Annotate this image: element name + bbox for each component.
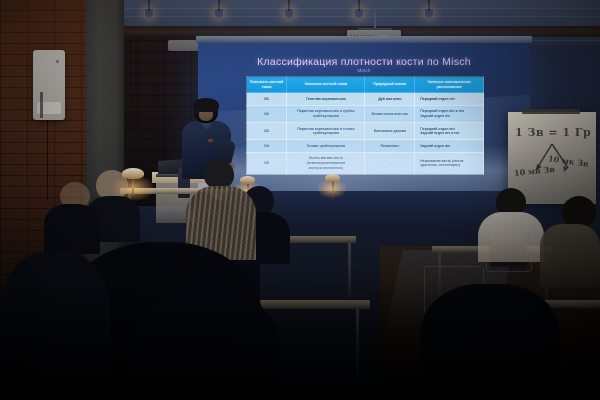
- table-row: D4Тонкая трабекулярнаяПенопластЗадний от…: [247, 140, 484, 153]
- audience-head-striped: [204, 160, 234, 189]
- flipchart-line-3: 10 мн Зв: [514, 164, 556, 178]
- cell-location: Передний отдел в/ч и н/чЗадний отдел н/ч: [415, 105, 484, 122]
- cell-location: Передний отдел н/ч: [415, 93, 484, 106]
- wall-unit-cord: [47, 120, 48, 200]
- table-row: D3Пористая кортикальная и тонкая трабеку…: [247, 123, 484, 140]
- audience-body-7: [540, 224, 600, 288]
- cell-density-code: D2: [247, 105, 287, 122]
- table-body: D1Плотная кортикальнаяДуб или кленПередн…: [247, 93, 484, 174]
- cell-analog: Пенопласт: [365, 140, 415, 153]
- screen-roller-case: [196, 36, 532, 43]
- flipchart-leg: [40, 92, 43, 118]
- flipchart-arrows-icon: [526, 142, 574, 176]
- column-header-analog: Природный аналог: [365, 77, 415, 93]
- presenter-logo: [208, 139, 213, 142]
- table-row: D2Пористая кортикальная и грубая трабеку…: [247, 105, 484, 122]
- cell-description: Очень мягкая кость (неминерализованная м…: [287, 152, 365, 174]
- cell-location: Передний отдел в/чЗадний отдел в/ч и н/ч: [415, 123, 484, 140]
- cell-analog: Бальзовое дерево: [365, 123, 415, 140]
- foreground-silhouette-2: [130, 286, 280, 400]
- slide-subtitle: Misch: [198, 68, 530, 73]
- cell-description: Плотная кортикальная: [287, 93, 365, 106]
- cell-density-code: D3: [247, 123, 287, 140]
- presentation-slide: Классификация плотности кости по Misch M…: [198, 43, 530, 191]
- cell-description: Тонкая трабекулярная: [287, 140, 365, 153]
- audience-body-2: [44, 204, 100, 254]
- bone-density-table: Плотность костной ткани Описание костной…: [246, 76, 484, 175]
- presenter-hair: [193, 98, 219, 112]
- cell-description: Пористая кортикальная и тонкая трабекуля…: [287, 123, 365, 140]
- table-row: D1Плотная кортикальнаяДуб или кленПередн…: [247, 93, 484, 106]
- wall-air-purifier: [33, 50, 65, 120]
- cell-description: Пористая кортикальная и грубая трабекуля…: [287, 105, 365, 122]
- projection-screen: Классификация плотности кости по Misch M…: [198, 43, 530, 191]
- cell-analog: -: [365, 152, 415, 174]
- foreground-silhouette-4: [420, 284, 560, 400]
- cell-analog: Белая сосна или ель: [365, 105, 415, 122]
- foreground-silhouette-3: [0, 252, 110, 400]
- cell-location: Неразвитая кость (после удаления, остеоп…: [415, 152, 484, 174]
- column-header-description: Описание костной ткани: [287, 77, 365, 93]
- cell-density-code: D1: [247, 93, 287, 106]
- column-header-location: Типичное анатомическое расположение: [415, 77, 484, 93]
- flipchart-line-1: 1 Зв = 1 Гр: [515, 126, 591, 139]
- flipchart-clip: [522, 109, 580, 114]
- flipchart-board: 1 Зв = 1 Гр 10 мк Зв 10 мн Зв: [508, 112, 596, 204]
- cell-density-code: D4: [247, 140, 287, 153]
- cell-density-code: D5: [247, 152, 287, 174]
- column-header-density: Плотность костной ткани: [247, 77, 287, 93]
- table-header-row: Плотность костной ткани Описание костной…: [247, 77, 484, 93]
- table-row: D5Очень мягкая кость (неминерализованная…: [247, 152, 484, 174]
- lecture-hall-photo: Классификация плотности кости по Misch M…: [0, 0, 600, 400]
- cell-location: Задний отдел в/ч: [415, 140, 484, 153]
- audience-body-white-shirt: [478, 212, 544, 262]
- flipchart-line-2: 10 мк Зв: [548, 153, 590, 169]
- projector-mount: [374, 8, 376, 30]
- slide-title: Классификация плотности кости по Misch: [198, 56, 530, 68]
- cell-analog: Дуб или клен: [365, 93, 415, 106]
